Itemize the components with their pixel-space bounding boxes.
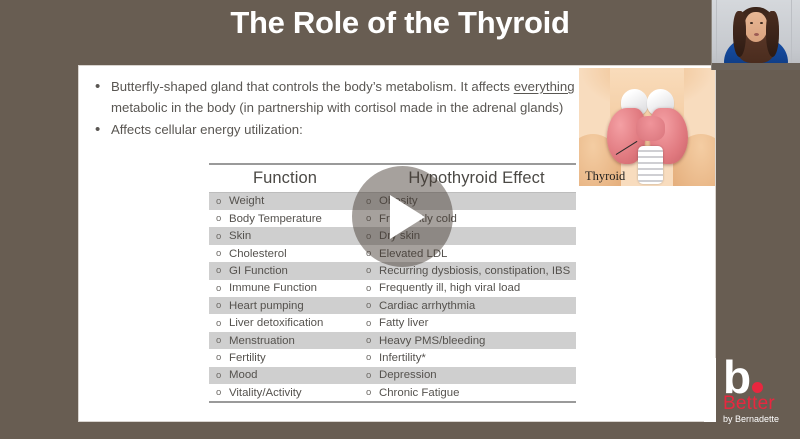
play-button[interactable] xyxy=(352,166,453,267)
cell-function: oFertility xyxy=(209,352,359,364)
cell-function-text: Heart pumping xyxy=(229,300,304,312)
cell-function: oMood xyxy=(209,369,359,381)
cell-function: oBody Temperature xyxy=(209,213,359,225)
cell-function-text: Vitality/Activity xyxy=(229,387,302,399)
table-row: oMenstruationoHeavy PMS/bleeding xyxy=(209,332,576,349)
cell-function: oMenstruation xyxy=(209,335,359,347)
cell-effect-text: Heavy PMS/bleeding xyxy=(379,335,485,347)
thyroid-gland-illustration: Thyroid xyxy=(579,68,715,186)
bullet-item: •Butterfly-shaped gland that controls th… xyxy=(93,76,593,118)
figure-thyroid-isthmus xyxy=(636,116,665,141)
cell-effect: oFatty liver xyxy=(359,317,576,329)
cell-function: oLiver detoxification xyxy=(209,317,359,329)
cell-function-text: Body Temperature xyxy=(229,213,322,225)
cell-effect: oCardiac arrhythmia xyxy=(359,300,576,312)
bullet-list: •Butterfly-shaped gland that controls th… xyxy=(93,76,593,141)
brand-logo: b Better by Bernadette xyxy=(723,357,795,435)
row-marker-icon: o xyxy=(216,248,229,259)
row-marker-icon: o xyxy=(366,300,379,311)
brand-tagline: by Bernadette xyxy=(723,414,795,425)
table-bottom-rule xyxy=(209,401,576,403)
cell-function: oWeight xyxy=(209,195,359,207)
webcam-wall-seam-right xyxy=(791,0,792,70)
play-icon xyxy=(390,195,425,239)
row-marker-icon: o xyxy=(216,352,229,363)
cell-function: oCholesterol xyxy=(209,248,359,260)
cell-effect: oInfertility* xyxy=(359,352,576,364)
bullet-text-segment: Affects cellular energy utilization: xyxy=(111,122,303,137)
cell-effect: oChronic Fatigue xyxy=(359,387,576,399)
bullet-item: •Affects cellular energy utilization: xyxy=(93,119,593,140)
presenter-webcam-pip[interactable] xyxy=(711,0,800,70)
cell-effect: oDepression xyxy=(359,369,576,381)
row-marker-icon: o xyxy=(216,231,229,242)
cell-function-text: Fertility xyxy=(229,352,266,364)
table-row: oVitality/ActivityoChronic Fatigue xyxy=(209,384,576,401)
row-marker-icon: o xyxy=(216,300,229,311)
row-marker-icon: o xyxy=(216,387,229,398)
row-marker-icon: o xyxy=(366,370,379,381)
figure-caption: Thyroid xyxy=(585,169,625,184)
cell-function-text: Weight xyxy=(229,195,264,207)
slide-title: The Role of the Thyroid xyxy=(0,2,800,44)
cell-effect-text: Depression xyxy=(379,369,437,381)
table-row: oHeart pumpingoCardiac arrhythmia xyxy=(209,297,576,314)
table-row: oMoodoDepression xyxy=(209,367,576,384)
cell-effect: oRecurring dysbiosis, constipation, IBS xyxy=(359,265,576,277)
cell-function: oVitality/Activity xyxy=(209,387,359,399)
bullet-marker-icon: • xyxy=(93,119,111,140)
cell-function: oGI Function xyxy=(209,265,359,277)
row-marker-icon: o xyxy=(216,196,229,207)
cell-function-text: Skin xyxy=(229,230,251,242)
column-header-function: Function xyxy=(209,169,377,188)
bullet-text: Butterfly-shaped gland that controls the… xyxy=(111,76,593,118)
cell-function-text: Cholesterol xyxy=(229,248,287,260)
row-marker-icon: o xyxy=(216,283,229,294)
cell-function: oSkin xyxy=(209,230,359,242)
video-player-stage[interactable]: The Role of the Thyroid •Butterfly-shape… xyxy=(0,0,800,439)
row-marker-icon: o xyxy=(366,283,379,294)
row-marker-icon: o xyxy=(216,213,229,224)
cell-function-text: Mood xyxy=(229,369,258,381)
table-row: oImmune FunctionoFrequently ill, high vi… xyxy=(209,280,576,297)
row-marker-icon: o xyxy=(216,318,229,329)
cell-function-text: Liver detoxification xyxy=(229,317,323,329)
cell-function-text: Immune Function xyxy=(229,282,317,294)
webcam-wall-seam-left xyxy=(716,0,717,70)
brand-dot-icon xyxy=(752,382,763,393)
brand-mark: b xyxy=(723,357,795,397)
row-marker-icon: o xyxy=(216,335,229,346)
row-marker-icon: o xyxy=(366,352,379,363)
cell-effect-text: Chronic Fatigue xyxy=(379,387,459,399)
cell-effect-text: Cardiac arrhythmia xyxy=(379,300,475,312)
table-row: oFertilityoInfertility* xyxy=(209,349,576,366)
cell-effect-text: Fatty liver xyxy=(379,317,428,329)
cell-effect: oHeavy PMS/bleeding xyxy=(359,335,576,347)
cell-function: oImmune Function xyxy=(209,282,359,294)
emphasized-word: everything xyxy=(514,79,575,94)
cell-effect-text: Infertility* xyxy=(379,352,426,364)
row-marker-icon: o xyxy=(366,335,379,346)
logo-side-bar xyxy=(704,358,716,422)
bullet-text-segment: metabolic in the body (in partnership wi… xyxy=(111,100,563,115)
presenter-desk xyxy=(712,63,800,70)
bullet-text-segment: Butterfly-shaped gland that controls the… xyxy=(111,79,514,94)
row-marker-icon: o xyxy=(216,265,229,276)
presenter-hair-front xyxy=(734,9,778,57)
row-marker-icon: o xyxy=(366,387,379,398)
cell-function: oHeart pumping xyxy=(209,300,359,312)
cell-effect: oFrequently ill, high viral load xyxy=(359,282,576,294)
cell-function-text: Menstruation xyxy=(229,335,295,347)
table-row: oLiver detoxificationoFatty liver xyxy=(209,314,576,331)
bullet-text: Affects cellular energy utilization: xyxy=(111,119,593,140)
row-marker-icon: o xyxy=(366,265,379,276)
cell-function-text: GI Function xyxy=(229,265,288,277)
bullet-marker-icon: • xyxy=(93,76,111,97)
row-marker-icon: o xyxy=(366,318,379,329)
brand-name: Better xyxy=(723,394,795,413)
cell-effect-text: Frequently ill, high viral load xyxy=(379,282,520,294)
figure-trachea xyxy=(638,146,663,184)
row-marker-icon: o xyxy=(216,370,229,381)
